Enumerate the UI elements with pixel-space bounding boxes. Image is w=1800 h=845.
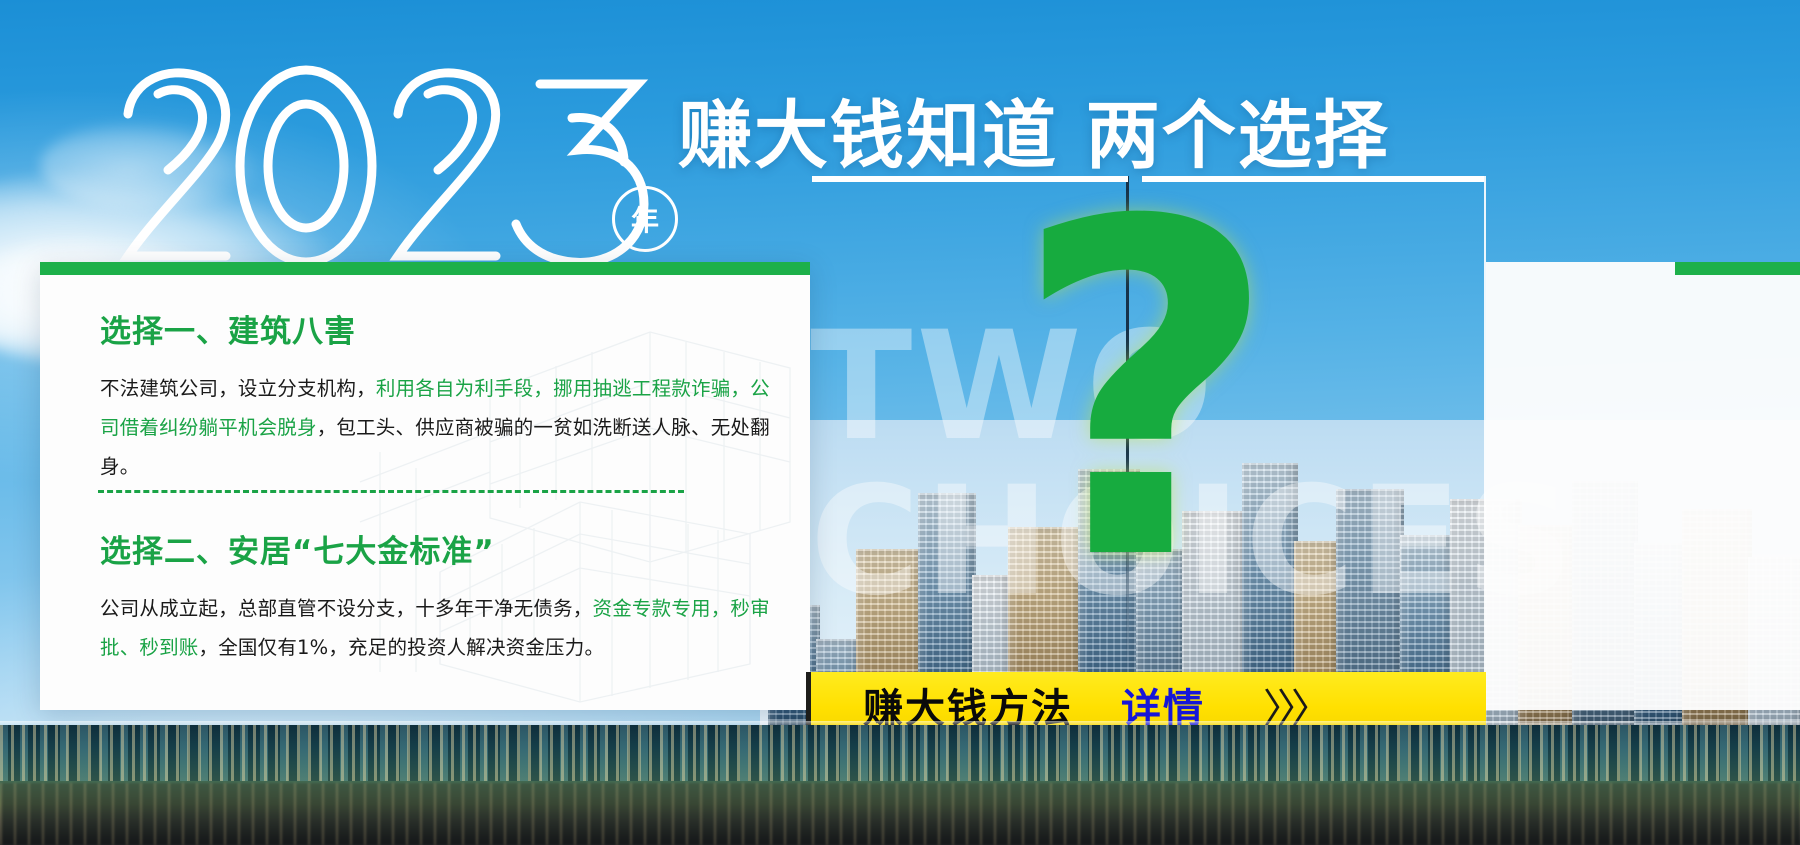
section-divider-dashed xyxy=(98,490,684,493)
content-card: 选择一、建筑八害 不法建筑公司，设立分支机构，利用各自为利手段，挪用抽逃工程款诈… xyxy=(40,262,810,710)
headline-rule-left xyxy=(812,176,1128,182)
right-white-panel xyxy=(1486,262,1800,710)
headline-underline xyxy=(812,176,1484,182)
question-mark-graphic: ? xyxy=(1012,215,1302,575)
section-one-title: 选择一、建筑八害 xyxy=(100,306,776,351)
card-section-two: 选择二、安居“七大金标准” 公司从成立起，总部直管不设分支，十多年干净无债务，资… xyxy=(100,526,776,667)
year-suffix-badge: 年 xyxy=(612,186,678,252)
section-two-body: 公司从成立起，总部直管不设分支，十多年干净无债务，资金专款专用，秒审批、秒到账，… xyxy=(100,589,776,667)
section-one-body: 不法建筑公司，设立分支机构，利用各自为利手段，挪用抽逃工程款诈骗，公司借着纠纷躺… xyxy=(100,369,776,486)
section-two-text-c: ，全国仅有1%，充足的投资人解决资金压力。 xyxy=(199,636,605,659)
section-two-title: 选择二、安居“七大金标准” xyxy=(100,526,776,571)
bottom-cityscape-strip xyxy=(0,725,1800,845)
year-2023-graphic xyxy=(110,58,690,273)
banner-stage: TWO CHOICES ? 年 赚大钱知道 两个选择 xyxy=(0,0,1800,845)
card-section-one: 选择一、建筑八害 不法建筑公司，设立分支机构，利用各自为利手段，挪用抽逃工程款诈… xyxy=(100,306,776,486)
right-green-accent-bar xyxy=(1675,262,1800,275)
page-title: 赚大钱知道 两个选择 xyxy=(678,76,1390,183)
section-two-text-a: 公司从成立起，总部直管不设分支，十多年干净无债务， xyxy=(100,597,593,620)
section-one-text-a: 不法建筑公司，设立分支机构， xyxy=(100,377,376,400)
headline-rule-right xyxy=(1142,176,1484,182)
right-frame-line xyxy=(1484,176,1486,676)
